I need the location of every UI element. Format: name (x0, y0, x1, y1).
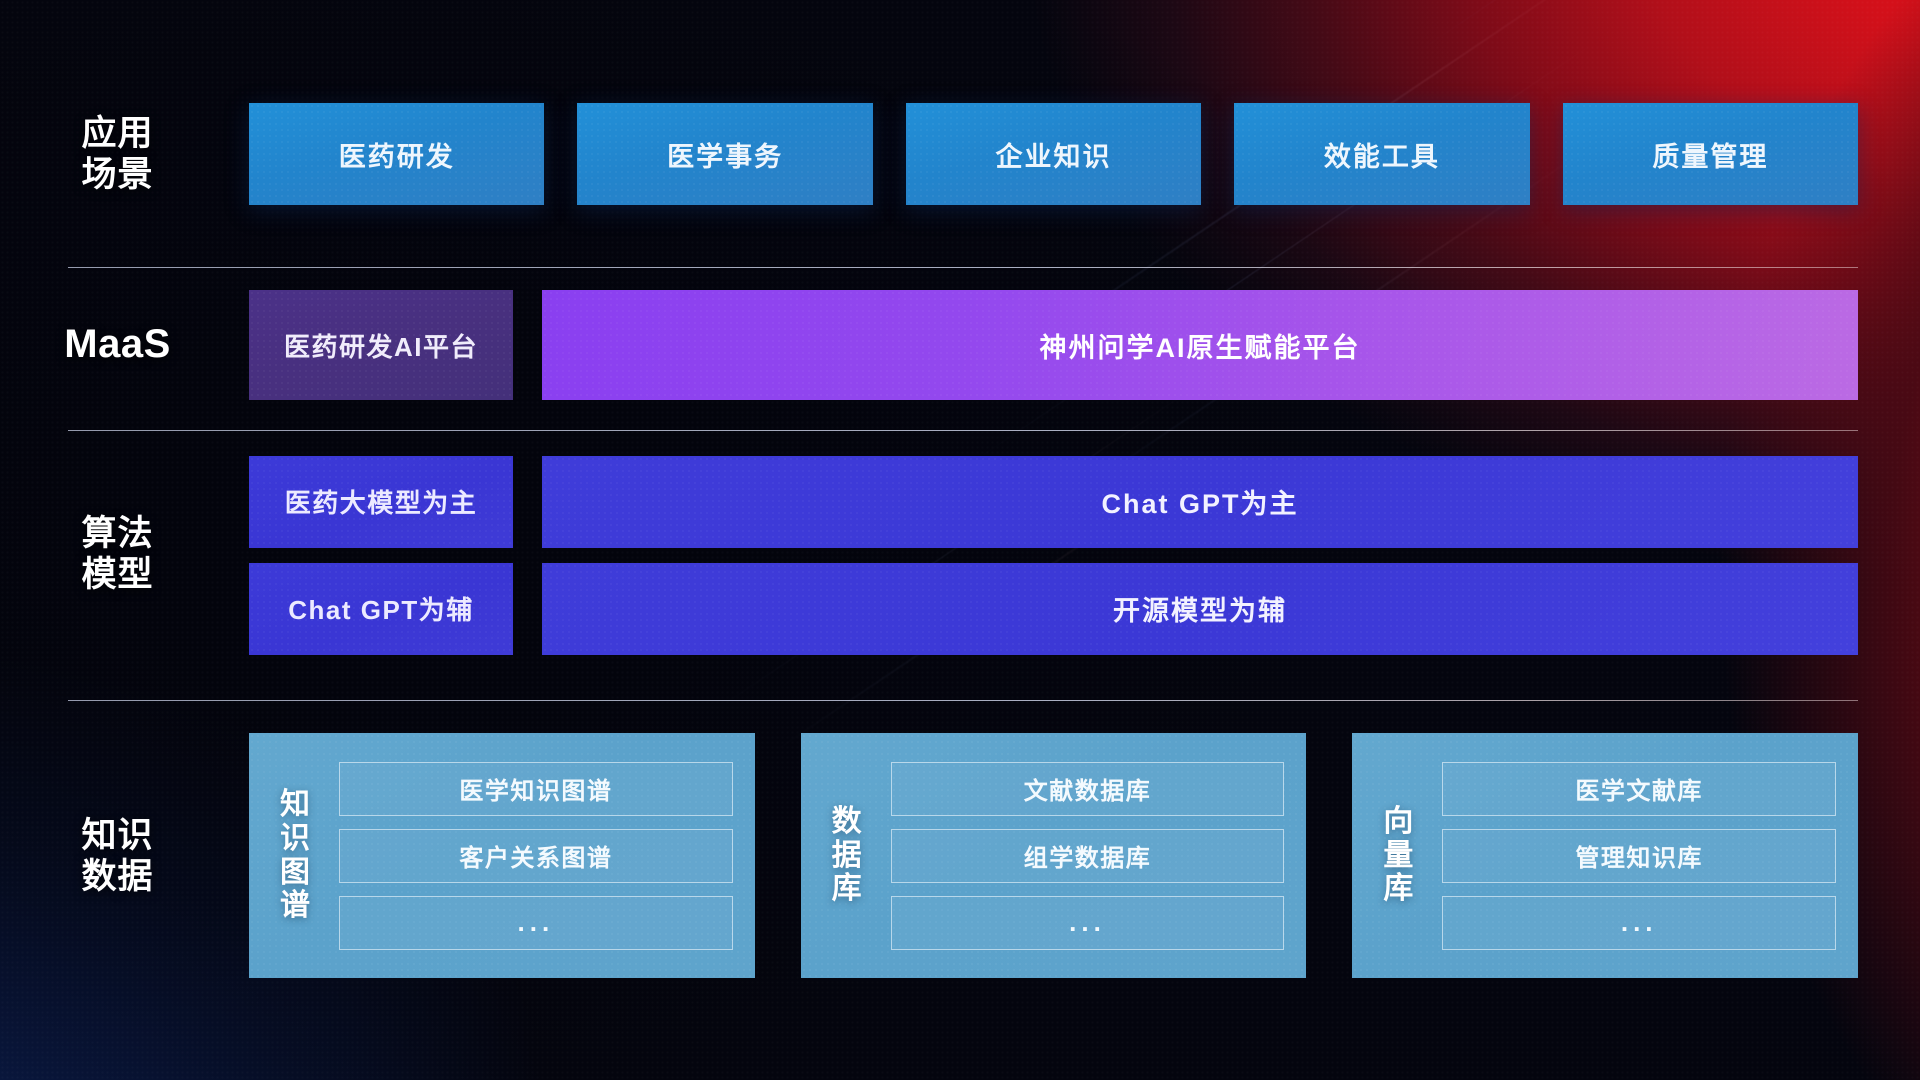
application-scenario-boxes: 医药研发 医学事务 企业知识 效能工具 质量管理 (249, 103, 1858, 205)
divider-after-algorithm (68, 700, 1858, 701)
app-box-medical-affairs[interactable]: 医学事务 (577, 103, 872, 205)
row-label-knowledge-data: 知识 数据 (0, 815, 235, 898)
knowledge-group-label-vector-store: 向 量 库 (1370, 805, 1426, 906)
row-maas: MaaS 医药研发AI平台 神州问学AI原生赋能平台 (0, 290, 1920, 400)
maas-boxes: 医药研发AI平台 神州问学AI原生赋能平台 (249, 290, 1858, 400)
algo-box-chatgpt-primary[interactable]: Chat GPT为主 (542, 456, 1858, 548)
row-label-maas: MaaS (0, 321, 235, 368)
row-label-application-scenarios: 应用 场景 (0, 113, 235, 196)
algo-box-medicine-large-model-primary[interactable]: 医药大模型为主 (249, 456, 513, 548)
divider-after-application (68, 267, 1858, 268)
app-box-enterprise-knowledge[interactable]: 企业知识 (906, 103, 1201, 205)
app-box-quality-management[interactable]: 质量管理 (1563, 103, 1858, 205)
algorithm-line-primary: 医药大模型为主 Chat GPT为主 (249, 456, 1858, 548)
knowledge-group-items-knowledge-graph: 医学知识图谱 客户关系图谱 ... (339, 762, 733, 950)
kn-item-more-vector-store[interactable]: ... (1442, 896, 1836, 950)
kn-item-medical-knowledge-graph[interactable]: 医学知识图谱 (339, 762, 733, 816)
diagram-rows: 应用 场景 医药研发 医学事务 企业知识 效能工具 质量管理 MaaS 医药研发… (0, 0, 1920, 1080)
knowledge-group-knowledge-graph[interactable]: 知 识 图 谱 医学知识图谱 客户关系图谱 ... (249, 733, 755, 978)
architecture-diagram: 应用 场景 医药研发 医学事务 企业知识 效能工具 质量管理 MaaS 医药研发… (0, 0, 1920, 1080)
knowledge-group-label-knowledge-graph: 知 识 图 谱 (267, 788, 323, 922)
knowledge-group-label-database: 数 据 库 (819, 805, 875, 906)
row-application-scenarios: 应用 场景 医药研发 医学事务 企业知识 效能工具 质量管理 (0, 103, 1920, 205)
algorithm-model-boxes: 医药大模型为主 Chat GPT为主 Chat GPT为辅 开源模型为辅 (249, 456, 1858, 655)
kn-item-customer-relation-graph[interactable]: 客户关系图谱 (339, 829, 733, 883)
maas-box-shenzhou-wenxue-platform[interactable]: 神州问学AI原生赋能平台 (542, 290, 1858, 400)
algo-box-chatgpt-secondary[interactable]: Chat GPT为辅 (249, 563, 513, 655)
kn-item-medical-literature-store[interactable]: 医学文献库 (1442, 762, 1836, 816)
app-box-efficiency-tools[interactable]: 效能工具 (1234, 103, 1529, 205)
kn-item-management-knowledge-store[interactable]: 管理知识库 (1442, 829, 1836, 883)
kn-item-more-knowledge-graph[interactable]: ... (339, 896, 733, 950)
kn-item-omics-database[interactable]: 组学数据库 (891, 829, 1285, 883)
kn-item-literature-database[interactable]: 文献数据库 (891, 762, 1285, 816)
maas-box-medicine-rd-ai-platform[interactable]: 医药研发AI平台 (249, 290, 513, 400)
algo-box-opensource-secondary[interactable]: 开源模型为辅 (542, 563, 1858, 655)
knowledge-data-groups: 知 识 图 谱 医学知识图谱 客户关系图谱 ... 数 据 库 文献数据库 组学… (249, 733, 1858, 978)
row-knowledge-data: 知识 数据 知 识 图 谱 医学知识图谱 客户关系图谱 ... 数 据 库 文献… (0, 733, 1920, 978)
kn-item-more-database[interactable]: ... (891, 896, 1285, 950)
row-algorithm-model: 算法 模型 医药大模型为主 Chat GPT为主 Chat GPT为辅 开源模型… (0, 455, 1920, 655)
knowledge-group-vector-store[interactable]: 向 量 库 医学文献库 管理知识库 ... (1352, 733, 1858, 978)
app-box-medicine-rd[interactable]: 医药研发 (249, 103, 544, 205)
row-label-algorithm-model: 算法 模型 (0, 513, 235, 596)
knowledge-group-database[interactable]: 数 据 库 文献数据库 组学数据库 ... (801, 733, 1307, 978)
algorithm-line-secondary: Chat GPT为辅 开源模型为辅 (249, 563, 1858, 655)
knowledge-group-items-database: 文献数据库 组学数据库 ... (891, 762, 1285, 950)
knowledge-group-items-vector-store: 医学文献库 管理知识库 ... (1442, 762, 1836, 950)
divider-after-maas (68, 430, 1858, 431)
